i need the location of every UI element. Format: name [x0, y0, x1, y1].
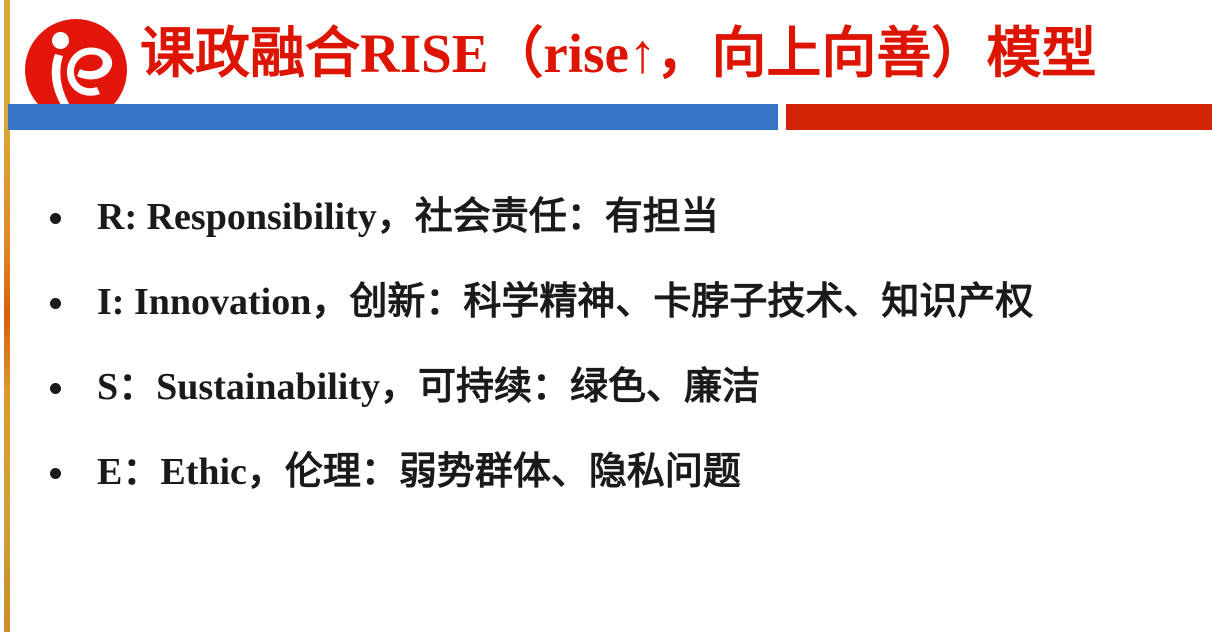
slide-header: 课政融合RISE（rise↑，向上向善）模型 — [0, 0, 1212, 100]
bullet-text-innovation: I: Innovation，创新：科学精神、卡脖子技术、知识产权 — [97, 282, 1033, 324]
list-item: S：Sustainability，可持续：绿色、廉洁 — [0, 345, 1212, 430]
list-item: R: Responsibility，社会责任：有担当 — [0, 175, 1212, 260]
bullet-dot-icon — [50, 468, 61, 479]
bullet-dot-icon — [50, 213, 61, 224]
divider-bar-red — [786, 104, 1212, 130]
bullet-text-sustainability: S：Sustainability，可持续：绿色、廉洁 — [97, 367, 760, 409]
bullet-list: R: Responsibility，社会责任：有担当 I: Innovation… — [0, 175, 1212, 515]
bullet-dot-icon — [50, 383, 61, 394]
bullet-text-ethic: E：Ethic，伦理：弱势群体、隐私问题 — [97, 452, 741, 494]
page-title: 课政融合RISE（rise↑，向上向善）模型 — [140, 16, 1200, 92]
list-item: I: Innovation，创新：科学精神、卡脖子技术、知识产权 — [0, 260, 1212, 345]
divider-bar-blue — [8, 104, 778, 130]
bullet-dot-icon — [50, 298, 61, 309]
bullet-text-responsibility: R: Responsibility，社会责任：有担当 — [97, 197, 719, 239]
presentation-slide: 课政融合RISE（rise↑，向上向善）模型 R: Responsibility… — [0, 0, 1212, 632]
list-item: E：Ethic，伦理：弱势群体、隐私问题 — [0, 430, 1212, 515]
